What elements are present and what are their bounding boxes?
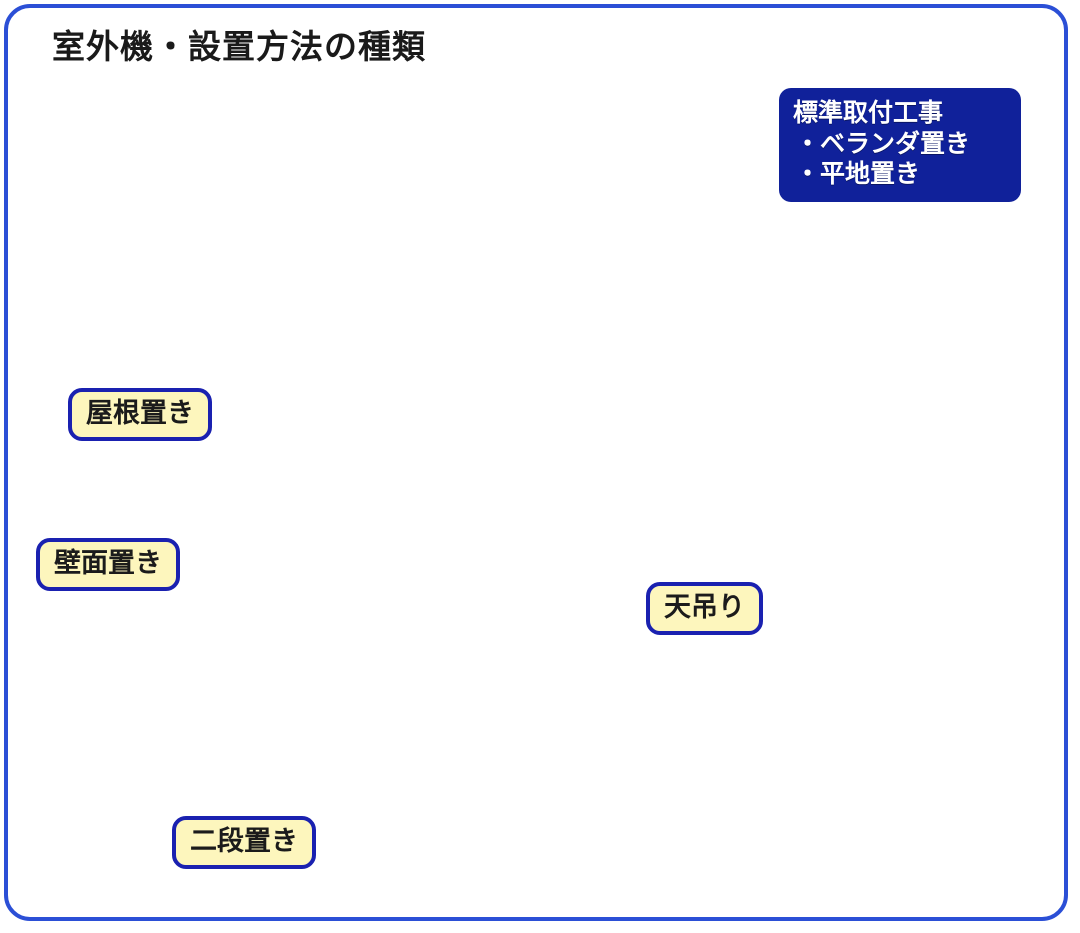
lower-roof [168,452,960,578]
label-roof-placement: 屋根置き [68,388,212,441]
diagram-canvas: 室外機・設置方法の種類 標準取付工事 ・ベランダ置き ・平地置き 屋根置き 壁面… [0,0,1080,933]
label-wall-placement: 壁面置き [36,538,180,591]
page-title: 室外機・設置方法の種類 [52,20,426,68]
label-ceiling-suspended: 天吊り [646,582,763,635]
callout-heading: 標準取付工事 [793,98,1013,129]
label-two-tier-placement: 二段置き [172,816,316,869]
arrow-wall [95,588,174,634]
wall-unit [187,571,305,658]
standard-installation-callout: 標準取付工事 ・ベランダ置き ・平地置き [779,88,1021,202]
callout-item-veranda: ・ベランダ置き [793,129,1013,160]
callout-item-flat-ground: ・平地置き [793,159,1013,190]
